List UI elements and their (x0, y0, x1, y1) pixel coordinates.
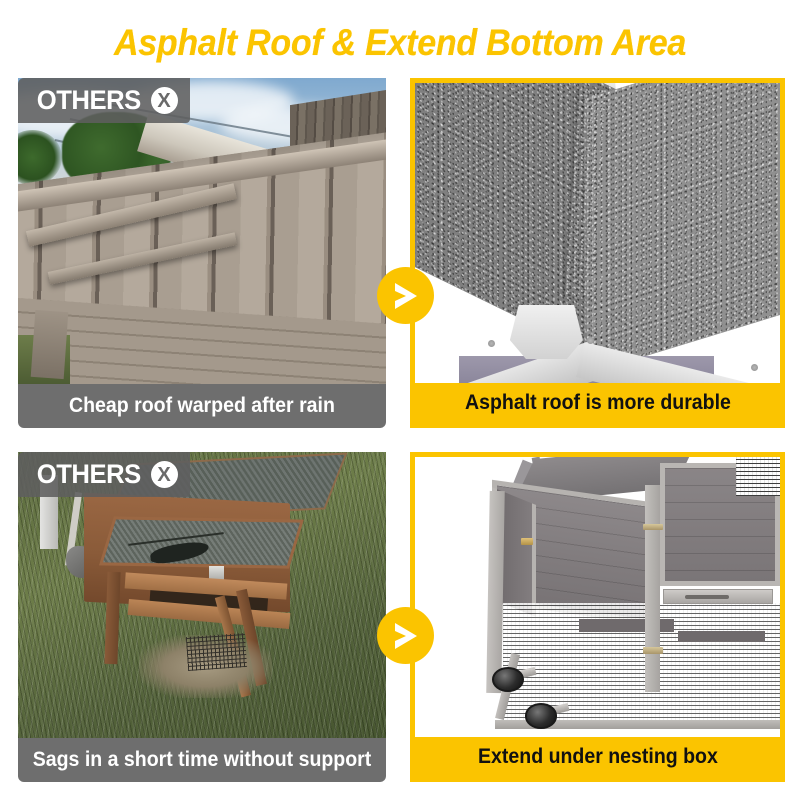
photo-warped-roof (18, 78, 386, 384)
panel-top-right: Asphalt roof is more durable (410, 78, 785, 428)
chevron-right-icon (377, 267, 434, 324)
photo-asphalt-roof (415, 83, 780, 383)
panel-top-left: OTHERS X Cheap roof warped after rain (18, 78, 386, 428)
photo-extended-hutch (415, 457, 780, 737)
page-title: Asphalt Roof & Extend Bottom Area (32, 22, 768, 64)
others-badge: OTHERS X (18, 452, 190, 497)
infographic-page: Asphalt Roof & Extend Bottom Area OTHERS (0, 0, 800, 800)
others-label: OTHERS (37, 85, 141, 116)
others-label: OTHERS (37, 459, 141, 490)
caption-top-right: Asphalt roof is more durable (415, 383, 780, 423)
x-mark-icon: X (151, 461, 178, 488)
x-mark-icon: X (151, 87, 178, 114)
caption-bottom-left: Sags in a short time without support (18, 738, 386, 782)
others-badge: OTHERS X (18, 78, 190, 123)
caption-top-right-text: Asphalt roof is more durable (465, 391, 731, 415)
panel-bottom-left: OTHERS X Sags in a short time without su… (18, 452, 386, 782)
caption-top-left-text: Cheap roof warped after rain (69, 394, 335, 418)
panel-bottom-right: Extend under nesting box (410, 452, 785, 782)
caption-bottom-left-text: Sags in a short time without support (33, 748, 372, 772)
chevron-right-icon (377, 607, 434, 664)
caption-bottom-right-text: Extend under nesting box (478, 745, 718, 769)
caption-bottom-right: Extend under nesting box (415, 737, 780, 777)
caption-top-left: Cheap roof warped after rain (18, 384, 386, 428)
